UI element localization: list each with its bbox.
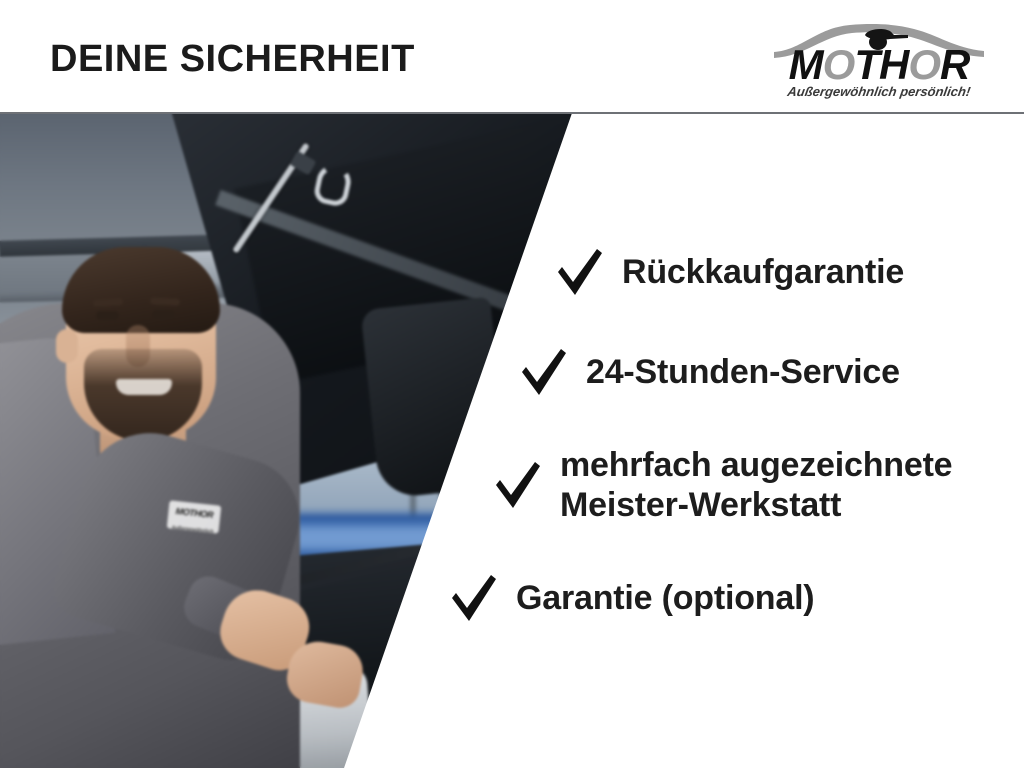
mothor-logo[interactable]: MOTHOR Außergewöhnlich persönlich! <box>768 18 990 106</box>
page-header: DEINE SICHERHEIT MOTHOR Außergewöhnlich … <box>0 0 1024 113</box>
mechanic-smile <box>116 379 172 395</box>
checklist-item-meister-werkstatt: mehrfach augezeichnete Meister-Werkstatt <box>492 445 952 525</box>
logo-letters-th: TH <box>854 41 908 88</box>
mechanic-eye-left <box>96 311 119 320</box>
check-mark-icon <box>554 243 606 301</box>
logo-letter-m: M <box>789 41 823 88</box>
checklist-item-label: mehrfach augezeichnete Meister-Werkstatt <box>560 445 952 525</box>
logo-letter-o2: O <box>908 41 940 88</box>
checklist-item-24-stunden-service: 24-Stunden-Service <box>518 343 900 401</box>
header-divider <box>0 112 1024 114</box>
checklist-item-label: Rückkaufgarantie <box>622 252 904 292</box>
checklist-item-garantie-optional: Garantie (optional) <box>448 569 814 627</box>
sweatshirt-logo-badge: MOTHOR Außergewöhnlich persönlich! <box>167 500 222 533</box>
logo-tagline: Außergewöhnlich persönlich! <box>767 84 991 99</box>
checklist-item-rueckkaufgarantie: Rückkaufgarantie <box>554 243 904 301</box>
mechanic-ear <box>56 329 78 363</box>
mechanic-eyebrow-right <box>150 297 180 306</box>
checklist-item-label: 24-Stunden-Service <box>586 352 900 392</box>
benefits-checklist: Rückkaufgarantie 24-Stunden-Service mehr… <box>430 113 1024 768</box>
logo-letter-r: R <box>940 41 969 88</box>
page-title: DEINE SICHERHEIT <box>50 38 415 81</box>
check-mark-icon <box>492 456 544 514</box>
checklist-item-label: Garantie (optional) <box>516 578 814 618</box>
mechanic-eye-right <box>152 310 175 319</box>
logo-wordmark: MOTHOR <box>770 42 988 88</box>
promo-slide: MOTHOR Außergewöhnlich persönlich! Rückk… <box>0 0 1024 768</box>
check-mark-icon <box>518 343 570 401</box>
logo-letter-o1: O <box>823 41 855 88</box>
check-mark-icon <box>448 569 500 627</box>
